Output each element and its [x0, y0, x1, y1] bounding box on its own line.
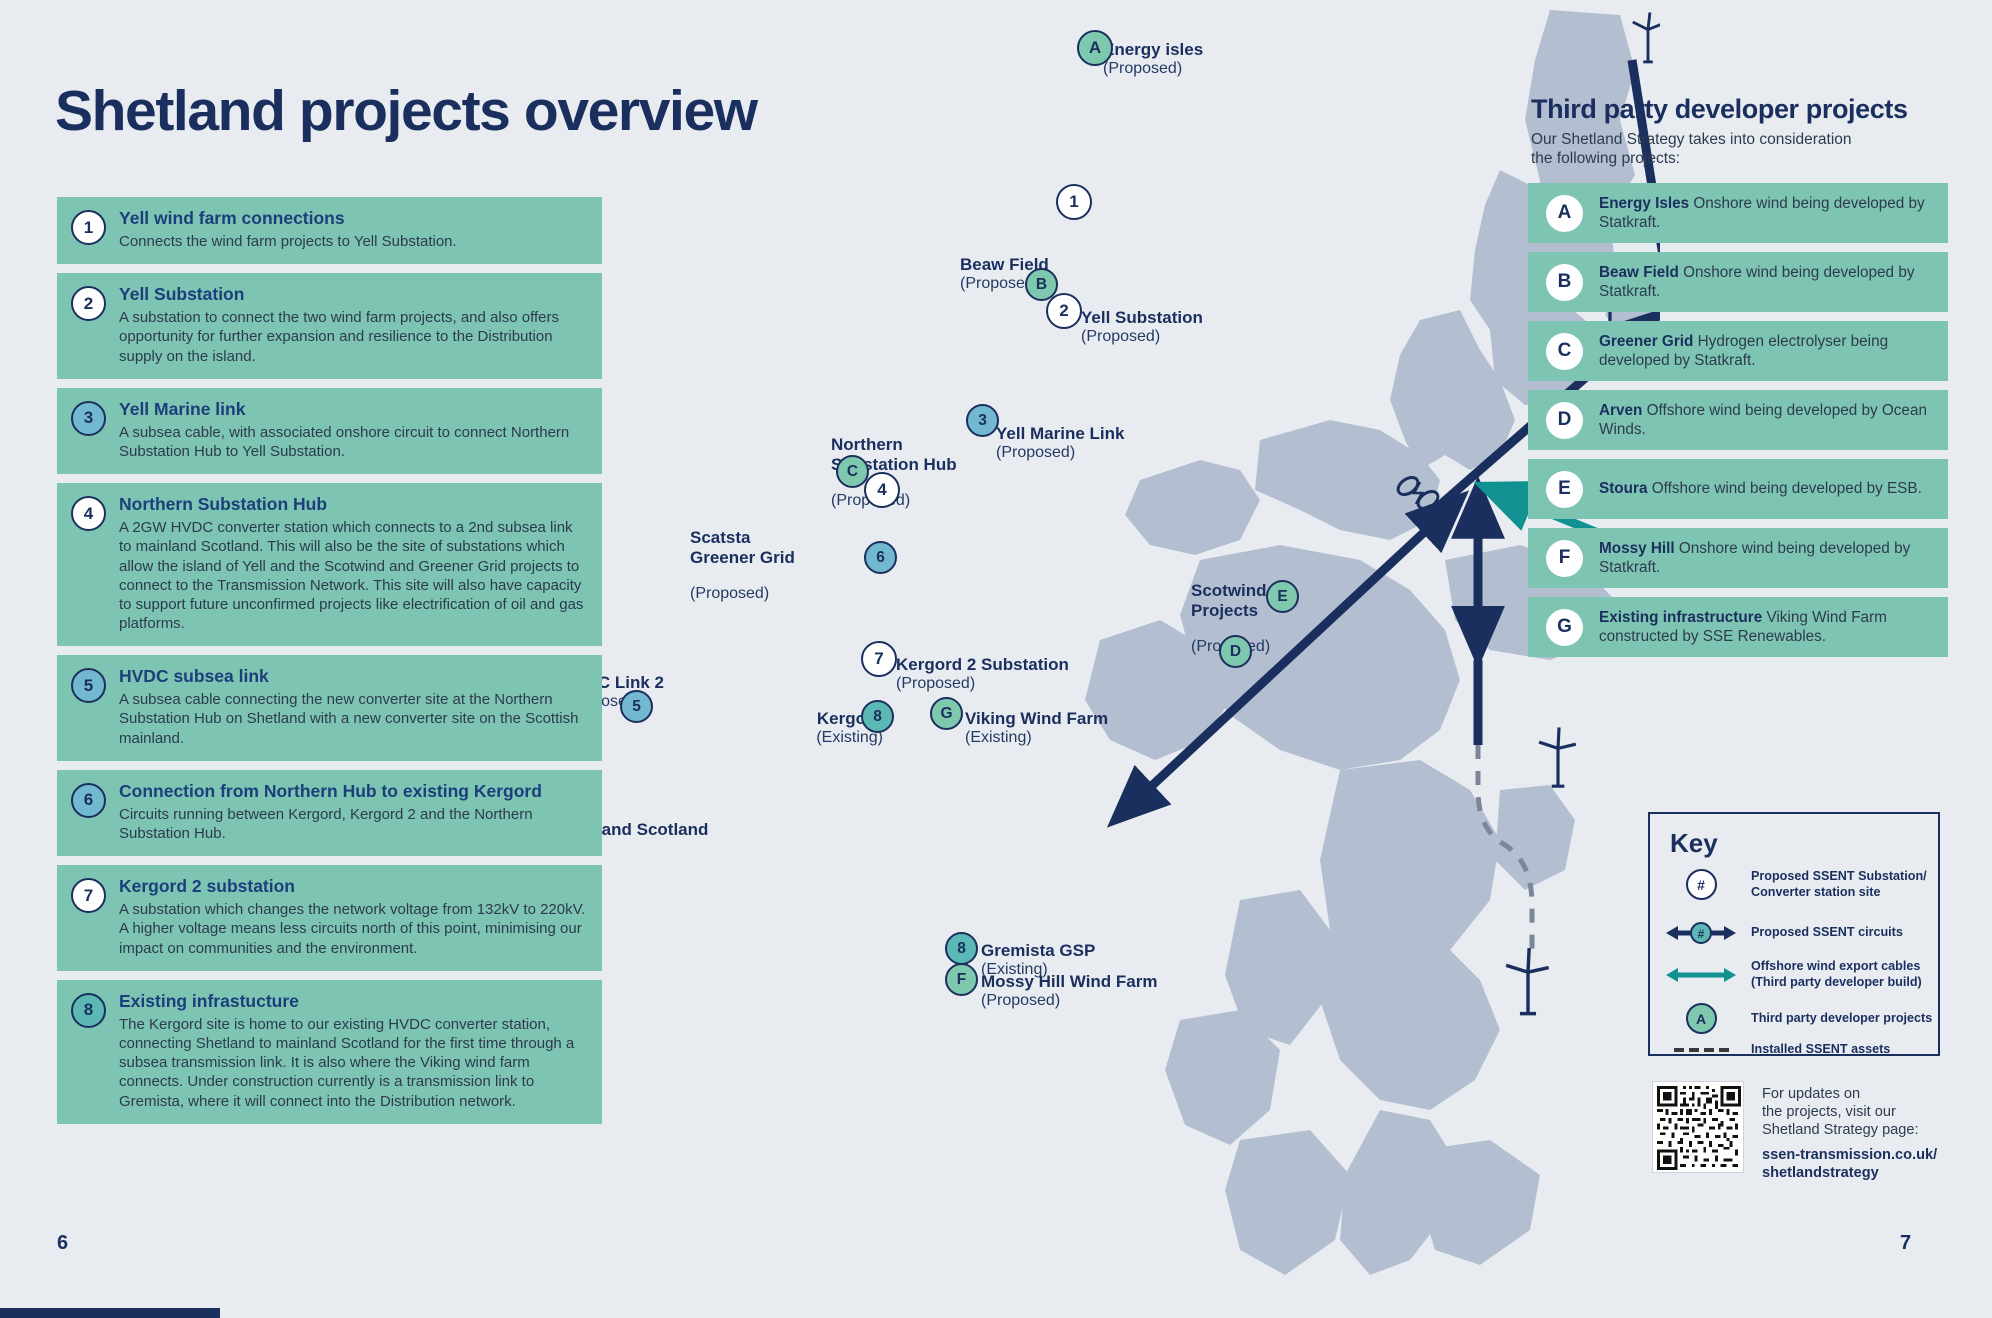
key-label-third-party: Third party developer projects — [1751, 1011, 1932, 1027]
qr-code-icon[interactable] — [1652, 1081, 1744, 1173]
map-label-kergord-2-substation: Kergord 2 Substation (Proposed) — [896, 655, 1069, 693]
map-label-mossy-hill-wind-farm: Mossy Hill Wind Farm (Proposed) — [981, 972, 1157, 1010]
project-desc-3: A subsea cable, with associated onshore … — [119, 423, 588, 461]
map-label-scatsta-greener-grid: Scatsta Greener Grid (Proposed) — [690, 510, 795, 621]
third-party-name-D: Arven — [1599, 402, 1642, 419]
project-badge-3: 3 — [71, 401, 106, 436]
key-row-third-party: A Third party developer projects — [1664, 1003, 1932, 1034]
double-arrow-circuit-icon: # — [1664, 920, 1738, 946]
project-item-8[interactable]: 8 Existing infrastucture The Kergord sit… — [57, 980, 602, 1124]
map-label-yell-substation: Yell Substation (Proposed) — [1081, 308, 1203, 346]
map-label-viking-wind-farm: Viking Wind Farm (Existing) — [965, 709, 1108, 747]
project-title-2: Yell Substation — [119, 284, 588, 305]
key-row-export-cables: Offshore wind export cables (Third party… — [1664, 959, 1922, 990]
map-node-8-kergord[interactable]: 8 — [861, 700, 894, 733]
project-desc-8: The Kergord site is home to our existing… — [119, 1015, 588, 1111]
project-item-3[interactable]: 3 Yell Marine link A subsea cable, with … — [57, 388, 602, 474]
page-number-right: 7 — [1900, 1232, 1911, 1255]
qr-link-line2[interactable]: shetlandstrategy — [1762, 1164, 1937, 1182]
project-desc-5: A subsea cable connecting the new conver… — [119, 690, 588, 748]
map-node-A[interactable]: A — [1077, 30, 1113, 66]
project-title-6: Connection from Northern Hub to existing… — [119, 781, 588, 802]
map-node-F[interactable]: F — [945, 963, 978, 996]
project-badge-2: 2 — [71, 286, 106, 321]
map-node-8-gremista[interactable]: 8 — [945, 932, 978, 965]
third-party-name-C: Greener Grid — [1599, 333, 1693, 350]
project-title-5: HVDC subsea link — [119, 666, 588, 687]
third-party-name-G: Existing infrastructure — [1599, 609, 1762, 626]
third-party-badge-G: G — [1546, 609, 1583, 646]
project-item-2[interactable]: 2 Yell Substation A substation to connec… — [57, 273, 602, 379]
third-party-badge-E: E — [1546, 471, 1583, 508]
project-badge-1: 1 — [71, 210, 106, 245]
third-party-badge-D: D — [1546, 402, 1583, 439]
project-item-7[interactable]: 7 Kergord 2 substation A substation whic… — [57, 865, 602, 971]
qr-section: For updates on the projects, visit our S… — [1652, 1081, 1937, 1182]
project-desc-4: A 2GW HVDC converter station which conne… — [119, 518, 588, 633]
footer-bar — [0, 1308, 220, 1318]
key-label-installed-assets: Installed SSENT assets — [1751, 1042, 1890, 1058]
map-node-4[interactable]: 4 — [864, 472, 900, 508]
third-party-item-E[interactable]: E Stoura Offshore wind being developed b… — [1528, 459, 1948, 519]
third-party-item-G[interactable]: G Existing infrastructure Viking Wind Fa… — [1528, 597, 1948, 657]
third-party-desc-E: Offshore wind being developed by ESB. — [1652, 480, 1922, 497]
third-party-title: Third party developer projects — [1531, 94, 1908, 125]
shetland-map: Energy isles (Proposed) Beaw Field (Prop… — [600, 0, 1660, 1318]
project-title-1: Yell wind farm connections — [119, 208, 588, 229]
projects-list: 1 Yell wind farm connections Connects th… — [57, 197, 602, 1133]
map-node-7[interactable]: 7 — [861, 641, 897, 677]
map-node-1[interactable]: 1 — [1056, 184, 1092, 220]
project-badge-5: 5 — [71, 668, 106, 703]
third-party-item-F[interactable]: F Mossy Hill Onshore wind being develope… — [1528, 528, 1948, 588]
page-number-left: 6 — [57, 1232, 68, 1255]
project-title-8: Existing infrastucture — [119, 991, 588, 1012]
map-label-energy-isles: Energy isles (Proposed) — [1103, 40, 1203, 78]
project-title-7: Kergord 2 substation — [119, 876, 588, 897]
project-badge-7: 7 — [71, 878, 106, 913]
third-party-name-E: Stoura — [1599, 480, 1647, 497]
third-party-name-B: Beaw Field — [1599, 264, 1679, 281]
key-label-export-cables: Offshore wind export cables (Third party… — [1751, 959, 1922, 990]
hash-circle-icon: # — [1664, 869, 1738, 900]
project-badge-8: 8 — [71, 993, 106, 1028]
third-party-list: A Energy Isles Onshore wind being develo… — [1528, 183, 1948, 666]
dashed-line-icon — [1664, 1048, 1738, 1052]
project-desc-7: A substation which changes the network v… — [119, 900, 588, 958]
project-item-6[interactable]: 6 Connection from Northern Hub to existi… — [57, 770, 602, 856]
project-item-5[interactable]: 5 HVDC subsea link A subsea cable connec… — [57, 655, 602, 761]
key-row-substation: # Proposed SSENT Substation/ Converter s… — [1664, 869, 1927, 900]
qr-caption: For updates on the projects, visit our S… — [1762, 1085, 1937, 1139]
key-row-installed-assets: Installed SSENT assets — [1664, 1042, 1890, 1058]
key-row-circuits: # Proposed SSENT circuits — [1664, 920, 1903, 946]
third-party-name-F: Mossy Hill — [1599, 540, 1675, 557]
project-desc-2: A substation to connect the two wind far… — [119, 308, 588, 366]
map-label-yell-marine-link: Yell Marine Link (Proposed) — [996, 424, 1125, 462]
project-item-1[interactable]: 1 Yell wind farm connections Connects th… — [57, 197, 602, 264]
map-svg — [600, 0, 1660, 1318]
infographic-page: Shetland projects overview — [0, 0, 1992, 1318]
third-party-name-A: Energy Isles — [1599, 195, 1689, 212]
third-party-item-D[interactable]: D Arven Offshore wind being developed by… — [1528, 390, 1948, 450]
third-party-desc-D: Offshore wind being developed by Ocean W… — [1599, 402, 1927, 438]
project-title-3: Yell Marine link — [119, 399, 588, 420]
project-title-4: Northern Substation Hub — [119, 494, 588, 515]
letter-circle-icon: A — [1664, 1003, 1738, 1034]
svg-text:#: # — [1698, 927, 1705, 941]
map-node-3[interactable]: 3 — [966, 404, 999, 437]
map-node-G[interactable]: G — [930, 697, 963, 730]
map-node-E[interactable]: E — [1266, 580, 1299, 613]
third-party-item-B[interactable]: B Beaw Field Onshore wind being develope… — [1528, 252, 1948, 312]
key-label-substation: Proposed SSENT Substation/ Converter sta… — [1751, 869, 1927, 900]
key-label-circuits: Proposed SSENT circuits — [1751, 925, 1903, 941]
map-node-6[interactable]: 6 — [864, 541, 897, 574]
third-party-badge-C: C — [1546, 333, 1583, 370]
key-title: Key — [1670, 828, 1718, 859]
map-node-D[interactable]: D — [1219, 635, 1252, 668]
third-party-badge-A: A — [1546, 195, 1583, 232]
third-party-badge-F: F — [1546, 540, 1583, 577]
third-party-badge-B: B — [1546, 264, 1583, 301]
project-badge-4: 4 — [71, 496, 106, 531]
double-arrow-teal-icon — [1664, 963, 1738, 987]
key-legend-box: Key # Proposed SSENT Substation/ Convert… — [1648, 812, 1940, 1056]
project-desc-1: Connects the wind farm projects to Yell … — [119, 232, 588, 251]
project-badge-6: 6 — [71, 783, 106, 818]
qr-link-line1[interactable]: ssen-transmission.co.uk/ — [1762, 1146, 1937, 1164]
project-item-4[interactable]: 4 Northern Substation Hub A 2GW HVDC con… — [57, 483, 602, 646]
third-party-item-A[interactable]: A Energy Isles Onshore wind being develo… — [1528, 183, 1948, 243]
third-party-item-C[interactable]: C Greener Grid Hydrogen electrolyser bei… — [1528, 321, 1948, 381]
map-node-5[interactable]: 5 — [620, 690, 653, 723]
map-node-2[interactable]: 2 — [1046, 293, 1082, 329]
project-desc-6: Circuits running between Kergord, Kergor… — [119, 805, 588, 843]
third-party-subtitle: Our Shetland Strategy takes into conside… — [1531, 130, 1861, 169]
